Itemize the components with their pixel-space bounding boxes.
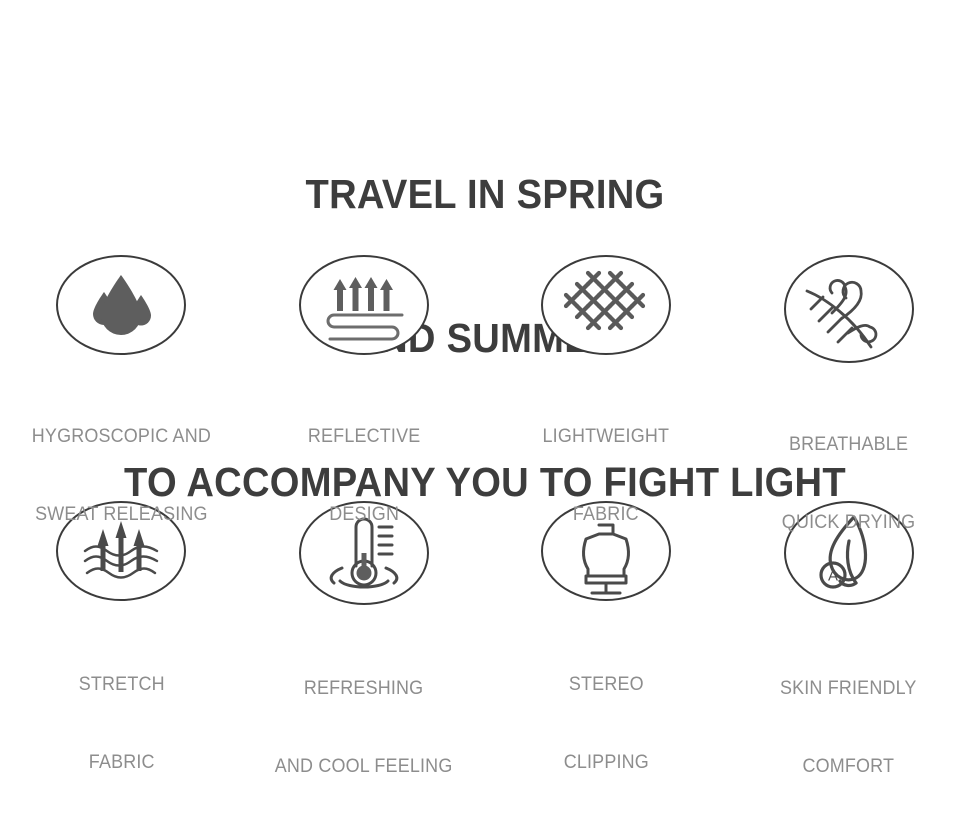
feature-item-lightweight[interactable]: LIGHTWEIGHT FABRIC [485, 255, 728, 501]
page-title-line-1: TRAVEL IN SPRING [34, 170, 936, 218]
feature-label: STRETCH FABRIC [78, 619, 164, 827]
feature-label-line-2: QUICK DRYING [782, 509, 915, 535]
feature-label: BREATHABLE QUICK DRYING [782, 379, 915, 587]
feature-label-line-1: LIGHTWEIGHT [543, 423, 670, 449]
feature-label: LIGHTWEIGHT FABRIC [543, 371, 670, 579]
feature-label-line-1: STRETCH [78, 671, 164, 697]
feature-label-line-2: CLIPPING [564, 749, 649, 775]
feature-item-hygroscopic[interactable]: HYGROSCOPIC AND SWEAT RELEASING [0, 255, 243, 501]
feather-with-wind-swirls-icon [784, 255, 914, 363]
arrows-over-folded-fabric-icon [299, 255, 429, 355]
feature-label-line-2: COMFORT [780, 753, 917, 779]
feature-label: STEREO CLIPPING [564, 619, 649, 827]
feature-label-line-1: BREATHABLE [782, 431, 915, 457]
feature-label-line-2: FABRIC [543, 501, 670, 527]
feature-item-breathable[interactable]: BREATHABLE QUICK DRYING [728, 255, 970, 501]
feature-label-line-2: FABRIC [78, 749, 164, 775]
water-droplets-icon [56, 255, 186, 355]
feature-label-line-2: AND COOL FEELING [275, 753, 453, 779]
feature-poster: TRAVEL IN SPRING AND SUMMER TO ACCOMPANY… [0, 0, 970, 766]
feature-label-line-1: STEREO [564, 671, 649, 697]
feature-label-line-1: REFLECTIVE [308, 423, 420, 449]
feature-item-reflective[interactable]: REFLECTIVE DESIGN [243, 255, 486, 501]
feature-label-line-2: SWEAT RELEASING [32, 501, 211, 527]
woven-crosshatch-icon [541, 255, 671, 355]
feature-label-line-2: DESIGN [308, 501, 420, 527]
feature-label: REFRESHING AND COOL FEELING [275, 623, 453, 831]
feature-label-line-1: REFRESHING [275, 675, 453, 701]
feature-label-line-1: HYGROSCOPIC AND [32, 423, 211, 449]
feature-label-line-1: SKIN FRIENDLY [780, 675, 917, 701]
feature-grid: HYGROSCOPIC AND SWEAT RELEASING [0, 255, 970, 747]
feature-label: HYGROSCOPIC AND SWEAT RELEASING [32, 371, 211, 579]
feature-label: REFLECTIVE DESIGN [308, 371, 420, 579]
feature-label: SKIN FRIENDLY COMFORT [780, 623, 917, 831]
